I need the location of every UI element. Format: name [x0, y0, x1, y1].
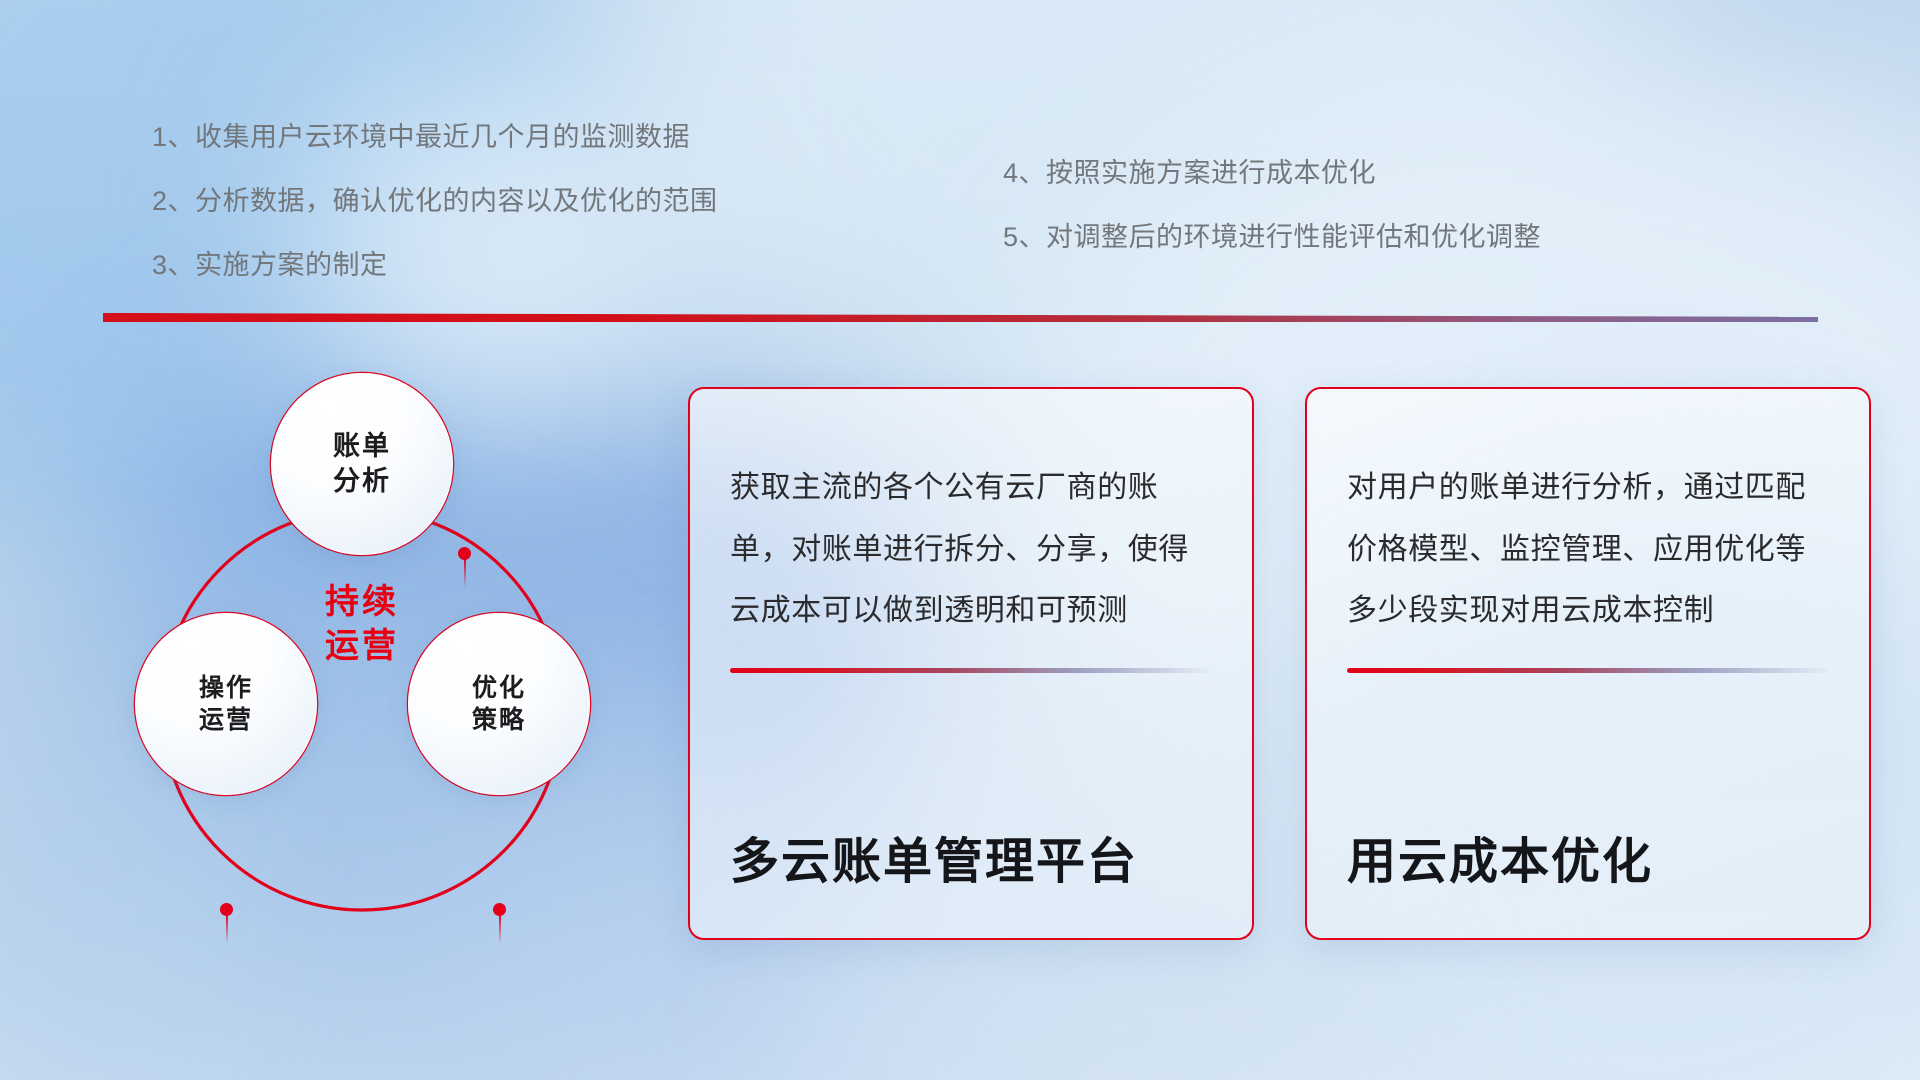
card-title: 多云账单管理平台	[730, 836, 1212, 890]
venn-center-label: 持续 运营	[271, 580, 453, 668]
card-divider	[1347, 668, 1829, 673]
card-multi-cloud-billing-platform[interactable]: 获取主流的各个公有云厂商的账单，对账单进行拆分、分享，使得云成本可以做到透明和可…	[688, 387, 1254, 940]
venn-node-label-line2: 运营	[199, 704, 253, 736]
card-body-text: 获取主流的各个公有云厂商的账单，对账单进行拆分、分享，使得云成本可以做到透明和可…	[730, 457, 1212, 642]
venn-center-label-line2: 运营	[271, 624, 453, 668]
venn-diagram: 账单 分析 操作 运营 优化 策略 持续 运营	[96, 355, 636, 915]
step-item-3: 3、实施方案的制定	[152, 252, 718, 279]
step-item-2: 2、分析数据，确认优化的内容以及优化的范围	[152, 188, 718, 215]
card-cloud-cost-optimization[interactable]: 对用户的账单进行分析，通过匹配价格模型、监控管理、应用优化等多少段实现对用云成本…	[1305, 387, 1871, 940]
connector-tail-left	[226, 914, 228, 944]
step-item-4: 4、按照实施方案进行成本优化	[1003, 160, 1541, 187]
venn-node-label-line1: 账单	[333, 429, 391, 464]
venn-node-label-line1: 操作	[199, 672, 253, 704]
card-divider	[730, 668, 1212, 673]
divider-line	[103, 313, 1818, 322]
card-title: 用云成本优化	[1347, 836, 1829, 890]
venn-node-bill-analysis[interactable]: 账单 分析	[271, 373, 453, 555]
steps-list-right: 4、按照实施方案进行成本优化 5、对调整后的环境进行性能评估和优化调整	[1003, 160, 1541, 288]
section-divider	[103, 313, 1818, 322]
step-item-5: 5、对调整后的环境进行性能评估和优化调整	[1003, 224, 1541, 251]
step-item-1: 1、收集用户云环境中最近几个月的监测数据	[152, 124, 718, 151]
connector-tail-right	[499, 914, 501, 944]
venn-node-label-line2: 策略	[472, 704, 526, 736]
venn-center-label-line1: 持续	[271, 580, 453, 624]
venn-node-label-line1: 优化	[472, 672, 526, 704]
venn-node-label-line2: 分析	[333, 464, 391, 499]
card-body-text: 对用户的账单进行分析，通过匹配价格模型、监控管理、应用优化等多少段实现对用云成本…	[1347, 457, 1829, 642]
steps-list-left: 1、收集用户云环境中最近几个月的监测数据 2、分析数据，确认优化的内容以及优化的…	[152, 124, 718, 316]
connector-tail-top	[464, 558, 466, 588]
